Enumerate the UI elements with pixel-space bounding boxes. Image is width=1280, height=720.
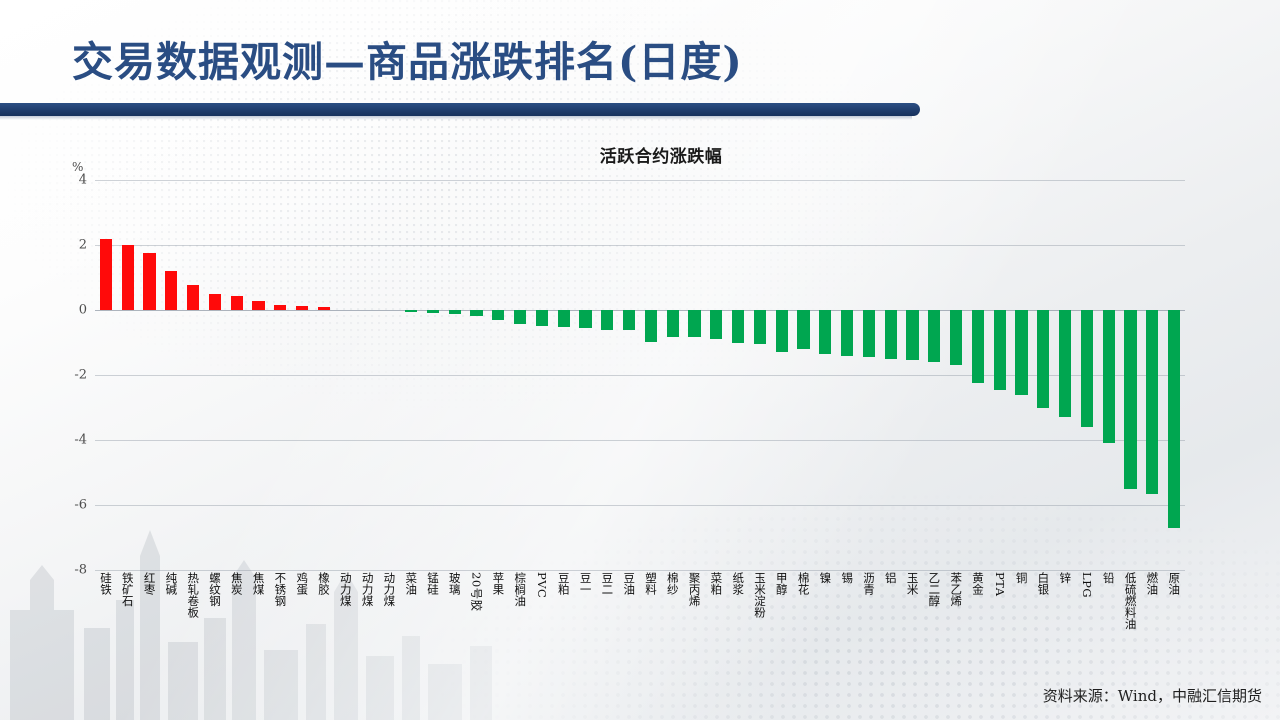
x-axis-tick-label: 聚丙烯 xyxy=(688,572,700,607)
x-axis-tick-label: 乙二醇 xyxy=(928,572,940,607)
bar xyxy=(100,239,112,311)
x-axis-tick-label: 豆粕 xyxy=(558,572,570,595)
bar xyxy=(863,310,875,357)
bar xyxy=(928,310,940,362)
bar xyxy=(623,310,635,330)
gridline-neg4 xyxy=(95,440,1185,441)
gridline-4 xyxy=(95,180,1185,181)
bar xyxy=(492,310,504,320)
bar xyxy=(972,310,984,383)
y-axis-tick-label: 2 xyxy=(27,238,87,253)
x-axis-tick-label: 铅 xyxy=(1103,572,1115,584)
x-axis-tick-label: 动力煤 xyxy=(340,572,352,607)
y-axis-tick-label: -8 xyxy=(27,563,87,578)
x-axis-tick-label: 镍 xyxy=(819,572,831,584)
bar xyxy=(667,310,679,337)
bar xyxy=(1124,310,1136,489)
x-axis-tick-label: 纯碱 xyxy=(165,572,177,595)
slide-canvas: 交易数据观测—商品涨跌排名(日度) 活跃合约涨跌幅 % 420-2-4-6-8 … xyxy=(0,0,1280,720)
x-axis-tick-label: 20号胶 xyxy=(470,572,482,612)
x-axis-tick-label: 鸡蛋 xyxy=(296,572,308,595)
bar xyxy=(994,310,1006,390)
x-axis-tick-label: 甲醇 xyxy=(776,572,788,595)
y-axis-tick-label: -4 xyxy=(27,433,87,448)
x-axis-tick-label: 铁矿石 xyxy=(122,572,134,607)
x-axis-tick-label: 黄金 xyxy=(972,572,984,595)
bar xyxy=(1015,310,1027,395)
x-axis-tick-label: 焦炭 xyxy=(231,572,243,595)
bar xyxy=(601,310,613,330)
bar xyxy=(187,285,199,310)
x-axis-tick-label: 焦煤 xyxy=(252,572,264,595)
x-axis-tick-label: 豆油 xyxy=(623,572,635,595)
bar xyxy=(514,310,526,324)
source-note: 资料来源：Wind，中融汇信期货 xyxy=(1043,685,1262,706)
title-rule-shadow xyxy=(0,116,912,120)
x-axis-tick-label: 棉纱 xyxy=(667,572,679,595)
page-title: 交易数据观测—商品涨跌排名(日度) xyxy=(72,28,743,88)
x-axis-tick-label: 纸浆 xyxy=(732,572,744,595)
chart-title: 活跃合约涨跌幅 xyxy=(0,142,1280,167)
slide-header: 交易数据观测—商品涨跌排名(日度) xyxy=(0,0,1280,118)
bar xyxy=(841,310,853,356)
bar xyxy=(1146,310,1158,494)
x-axis-tick-label: PTA xyxy=(994,572,1006,597)
x-axis-tick-label: 燃油 xyxy=(1146,572,1158,595)
x-axis-tick-label: 豆一 xyxy=(579,572,591,595)
x-axis-tick-label: 动力煤 xyxy=(361,572,373,607)
bar xyxy=(1081,310,1093,427)
x-axis-tick-label: 不锈钢 xyxy=(274,572,286,607)
bar xyxy=(579,310,591,328)
x-axis-tick-label: 锡 xyxy=(841,572,853,584)
x-axis-tick-label: 锰硅 xyxy=(427,572,439,595)
bar xyxy=(688,310,700,337)
bar xyxy=(209,294,221,310)
bar xyxy=(296,306,308,310)
x-axis-tick-label: 玉米 xyxy=(906,572,918,595)
x-axis-tick-label: 热轧卷板 xyxy=(187,572,199,618)
gridline-neg8 xyxy=(95,570,1185,571)
x-axis-tick-label: 塑料 xyxy=(645,572,657,595)
bar xyxy=(732,310,744,343)
x-axis-tick-label: PVC xyxy=(536,572,548,598)
y-axis-tick-label: -6 xyxy=(27,498,87,513)
bar xyxy=(1059,310,1071,417)
x-axis-tick-label: 红枣 xyxy=(143,572,155,595)
x-axis-tick-label: 螺纹钢 xyxy=(209,572,221,607)
y-axis-tick-label: 4 xyxy=(27,173,87,188)
bar xyxy=(231,296,243,310)
bar-chart-plot-area: 420-2-4-6-8 xyxy=(95,180,1185,570)
x-axis-tick-label: 橡胶 xyxy=(318,572,330,595)
bar xyxy=(797,310,809,349)
x-axis-tick-label: 铜 xyxy=(1015,572,1027,584)
bar xyxy=(710,310,722,339)
x-axis-tick-label: 豆二 xyxy=(601,572,613,595)
x-axis-tick-label: 动力煤 xyxy=(383,572,395,607)
bar xyxy=(470,310,482,316)
bar xyxy=(143,253,155,310)
bar xyxy=(122,245,134,310)
y-axis-tick-label: 0 xyxy=(27,303,87,318)
bar xyxy=(449,310,461,314)
x-axis-tick-label: 苯乙烯 xyxy=(950,572,962,607)
bar xyxy=(645,310,657,342)
gridline-neg6 xyxy=(95,505,1185,506)
x-axis-tick-label: 玉米淀粉 xyxy=(754,572,766,618)
x-axis-tick-label: 白银 xyxy=(1037,572,1049,595)
bar xyxy=(318,307,330,310)
bar xyxy=(1103,310,1115,443)
x-axis-tick-label: 棉花 xyxy=(797,572,809,595)
x-axis-tick-label: 低硫燃料油 xyxy=(1124,572,1136,630)
x-axis-tick-label: 沥青 xyxy=(863,572,875,595)
x-axis-tick-labels-group: 硅铁铁矿石红枣纯碱热轧卷板螺纹钢焦炭焦煤不锈钢鸡蛋橡胶动力煤动力煤动力煤菜油锰硅… xyxy=(95,572,1185,702)
title-rule-bar xyxy=(0,103,920,116)
x-axis-tick-label: 菜粕 xyxy=(710,572,722,595)
bar xyxy=(165,271,177,310)
x-axis-tick-label: LPG xyxy=(1081,572,1093,598)
x-axis-tick-label: 硅铁 xyxy=(100,572,112,595)
bar xyxy=(1168,310,1180,528)
bar xyxy=(776,310,788,352)
x-axis-tick-label: 苹果 xyxy=(492,572,504,595)
x-axis-tick-label: 原油 xyxy=(1168,572,1180,595)
bar xyxy=(906,310,918,360)
x-axis-tick-label: 锌 xyxy=(1059,572,1071,584)
bar xyxy=(252,301,264,310)
y-axis-tick-label: -2 xyxy=(27,368,87,383)
bar xyxy=(819,310,831,354)
bar xyxy=(274,305,286,310)
bar xyxy=(1037,310,1049,408)
x-axis-tick-label: 铝 xyxy=(885,572,897,584)
bar xyxy=(754,310,766,344)
bar xyxy=(950,310,962,365)
bar xyxy=(885,310,897,359)
bar xyxy=(536,310,548,326)
x-axis-tick-label: 菜油 xyxy=(405,572,417,595)
x-axis-tick-label: 玻璃 xyxy=(449,572,461,595)
x-axis-tick-label: 棕榈油 xyxy=(514,572,526,607)
bar xyxy=(405,310,417,312)
bar xyxy=(427,310,439,313)
gridline-2 xyxy=(95,245,1185,246)
bar xyxy=(558,310,570,327)
